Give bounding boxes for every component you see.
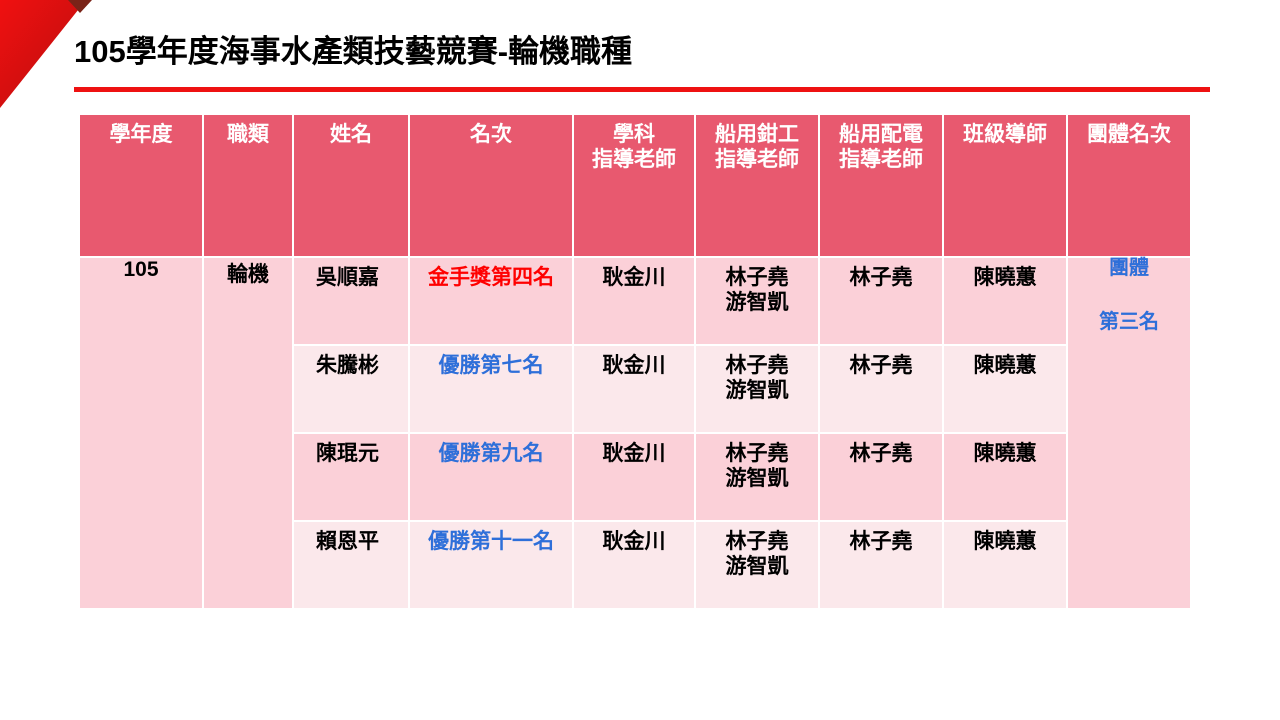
cell-marine-electric-teacher: 林子堯 — [820, 434, 942, 520]
column-header-line2: 指導老師 — [574, 148, 694, 173]
cell-marine-fitter-teacher: 林子堯 游智凱 — [696, 522, 818, 608]
column-header-line1: 姓名 — [294, 123, 408, 148]
title-underline — [74, 87, 1210, 92]
teacher-line2: 游智凱 — [696, 378, 818, 403]
column-header-marine-fitter-teacher: 船用鉗工 指導老師 — [696, 115, 818, 256]
cell-academic-teacher: 耿金川 — [574, 522, 694, 608]
teacher-line2: 游智凱 — [696, 466, 818, 491]
teacher-line1: 林子堯 — [696, 265, 818, 290]
corner-dark-notch — [68, 0, 92, 13]
cell-academic-teacher: 耿金川 — [574, 346, 694, 432]
cell-group-rank: 團體 第三名 — [1068, 258, 1190, 608]
cell-marine-electric-teacher: 林子堯 — [820, 522, 942, 608]
column-header-class-teacher: 班級導師 — [944, 115, 1066, 256]
cell-student-name: 陳琨元 — [294, 434, 408, 520]
column-header-line1: 職類 — [204, 123, 292, 148]
table-header-row: 學年度 職類 姓名 名次 學科 指導老師 船用鉗工 指導老師 船用配電 指導老師 — [80, 115, 1190, 256]
column-header-line1: 船用鉗工 — [696, 123, 818, 148]
column-header-line2: 指導老師 — [696, 148, 818, 173]
column-header-line2: 指導老師 — [820, 148, 942, 173]
cell-academic-teacher: 耿金川 — [574, 434, 694, 520]
teacher-line2: 游智凱 — [696, 290, 818, 315]
column-header-job-category: 職類 — [204, 115, 292, 256]
teacher-line1: 林子堯 — [696, 353, 818, 378]
column-header-line1: 學年度 — [80, 123, 202, 148]
group-rank-line2: 第三名 — [1068, 312, 1190, 332]
page-title: 105學年度海事水產類技藝競賽-輪機職種 — [74, 34, 632, 70]
column-header-line1: 班級導師 — [944, 123, 1066, 148]
cell-student-name: 朱騰彬 — [294, 346, 408, 432]
cell-marine-electric-teacher: 林子堯 — [820, 258, 942, 344]
cell-marine-electric-teacher: 林子堯 — [820, 346, 942, 432]
cell-academic-teacher: 耿金川 — [574, 258, 694, 344]
column-header-name: 姓名 — [294, 115, 408, 256]
cell-student-name: 賴恩平 — [294, 522, 408, 608]
results-table: 學年度 職類 姓名 名次 學科 指導老師 船用鉗工 指導老師 船用配電 指導老師 — [78, 113, 1192, 610]
column-header-group-rank: 團體名次 — [1068, 115, 1190, 256]
column-header-line1: 學科 — [574, 123, 694, 148]
column-header-rank: 名次 — [410, 115, 572, 256]
cell-rank: 優勝第十一名 — [410, 522, 572, 608]
column-header-marine-electric-teacher: 船用配電 指導老師 — [820, 115, 942, 256]
teacher-line1: 林子堯 — [696, 529, 818, 554]
column-header-school-year: 學年度 — [80, 115, 202, 256]
cell-class-teacher: 陳曉蕙 — [944, 258, 1066, 344]
column-header-line1: 團體名次 — [1068, 123, 1190, 148]
cell-rank: 金手獎第四名 — [410, 258, 572, 344]
cell-rank: 優勝第七名 — [410, 346, 572, 432]
cell-marine-fitter-teacher: 林子堯 游智凱 — [696, 258, 818, 344]
teacher-line2: 游智凱 — [696, 554, 818, 579]
cell-class-teacher: 陳曉蕙 — [944, 434, 1066, 520]
teacher-line1: 林子堯 — [696, 441, 818, 466]
cell-school-year: 105 — [80, 258, 202, 608]
cell-class-teacher: 陳曉蕙 — [944, 522, 1066, 608]
cell-job-category: 輪機 — [204, 258, 292, 608]
column-header-academic-teacher: 學科 指導老師 — [574, 115, 694, 256]
table-row: 105 輪機 吳順嘉 金手獎第四名 耿金川 林子堯 游智凱 林子堯 陳曉蕙 團體… — [80, 258, 1190, 344]
cell-marine-fitter-teacher: 林子堯 游智凱 — [696, 346, 818, 432]
cell-rank: 優勝第九名 — [410, 434, 572, 520]
column-header-line1: 船用配電 — [820, 123, 942, 148]
group-rank-line1: 團體 — [1068, 258, 1190, 278]
column-header-line1: 名次 — [410, 123, 572, 148]
cell-marine-fitter-teacher: 林子堯 游智凱 — [696, 434, 818, 520]
cell-class-teacher: 陳曉蕙 — [944, 346, 1066, 432]
cell-student-name: 吳順嘉 — [294, 258, 408, 344]
